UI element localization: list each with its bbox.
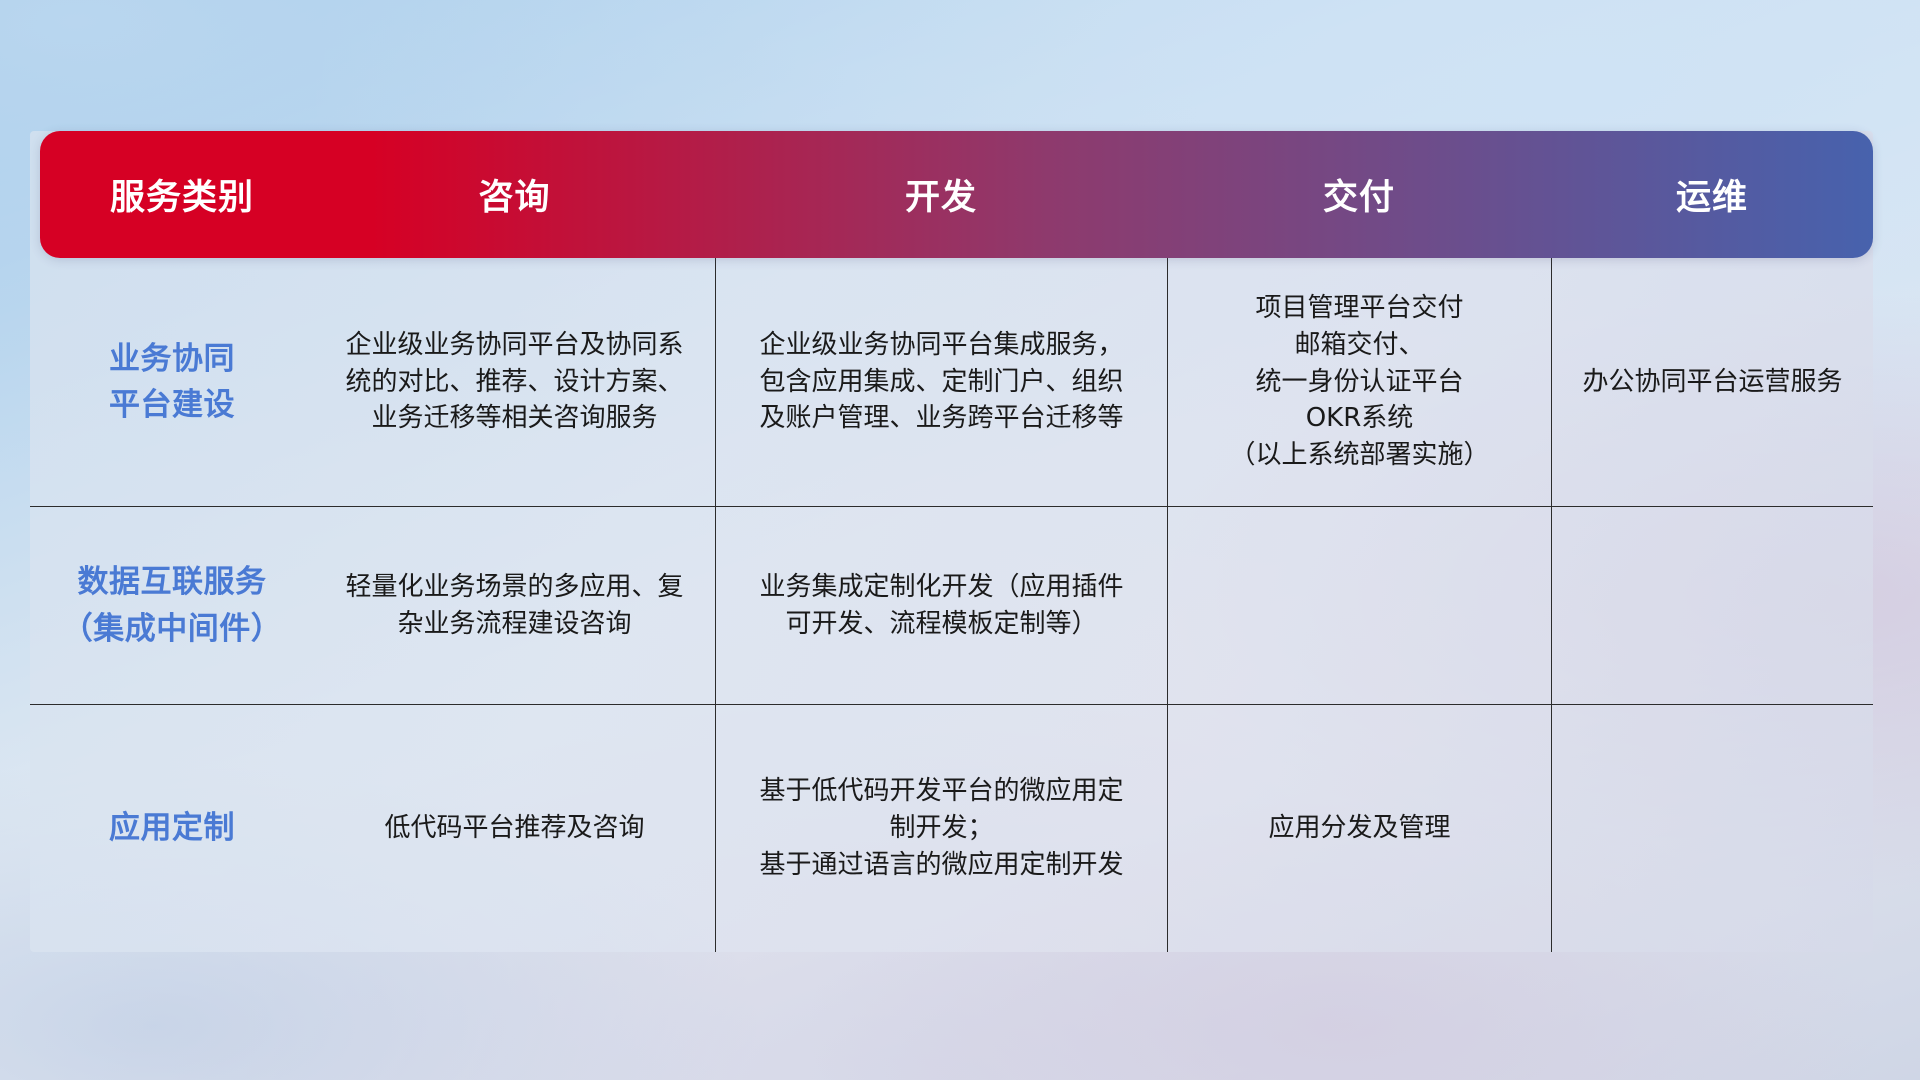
cell-operations: 办公协同平台运营服务 — [1551, 258, 1873, 506]
cell-delivery: 应用分发及管理 — [1167, 705, 1551, 952]
header-cell-consulting: 咨询 — [314, 169, 715, 220]
table-row: 数据互联服务 （集成中间件） 轻量化业务场景的多应用、复 杂业务流程建设咨询 业… — [30, 507, 1873, 705]
cell-operations — [1551, 507, 1873, 704]
cell-consulting: 企业级业务协同平台及协同系 统的对比、推荐、设计方案、 业务迁移等相关咨询服务 — [314, 258, 715, 506]
row-category-label: 数据互联服务 （集成中间件） — [30, 507, 314, 704]
row-category-label: 应用定制 — [30, 705, 314, 952]
row-category-label: 业务协同 平台建设 — [30, 258, 314, 506]
cell-delivery: 项目管理平台交付 邮箱交付、 统一身份认证平台 OKR系统 （以上系统部署实施） — [1167, 258, 1551, 506]
service-matrix-table: 服务类别 咨询 开发 交付 运维 业务协同 平台建设 企业级业务协同平台及协同系… — [30, 131, 1873, 952]
table-row: 业务协同 平台建设 企业级业务协同平台及协同系 统的对比、推荐、设计方案、 业务… — [30, 258, 1873, 507]
header-cell-category: 服务类别 — [40, 169, 314, 220]
table-body: 业务协同 平台建设 企业级业务协同平台及协同系 统的对比、推荐、设计方案、 业务… — [30, 258, 1873, 952]
cell-delivery — [1167, 507, 1551, 704]
table-row: 应用定制 低代码平台推荐及咨询 基于低代码开发平台的微应用定 制开发； 基于通过… — [30, 705, 1873, 952]
cell-development: 业务集成定制化开发（应用插件 可开发、流程模板定制等） — [715, 507, 1167, 704]
cell-operations — [1551, 705, 1873, 952]
cell-consulting: 轻量化业务场景的多应用、复 杂业务流程建设咨询 — [314, 507, 715, 704]
header-cell-development: 开发 — [715, 169, 1167, 220]
table-header-row: 服务类别 咨询 开发 交付 运维 — [40, 131, 1873, 258]
cell-consulting: 低代码平台推荐及咨询 — [314, 705, 715, 952]
cell-development: 基于低代码开发平台的微应用定 制开发； 基于通过语言的微应用定制开发 — [715, 705, 1167, 952]
header-cell-operations: 运维 — [1551, 169, 1873, 220]
header-cell-delivery: 交付 — [1167, 169, 1551, 220]
cell-development: 企业级业务协同平台集成服务， 包含应用集成、定制门户、组织 及账户管理、业务跨平… — [715, 258, 1167, 506]
